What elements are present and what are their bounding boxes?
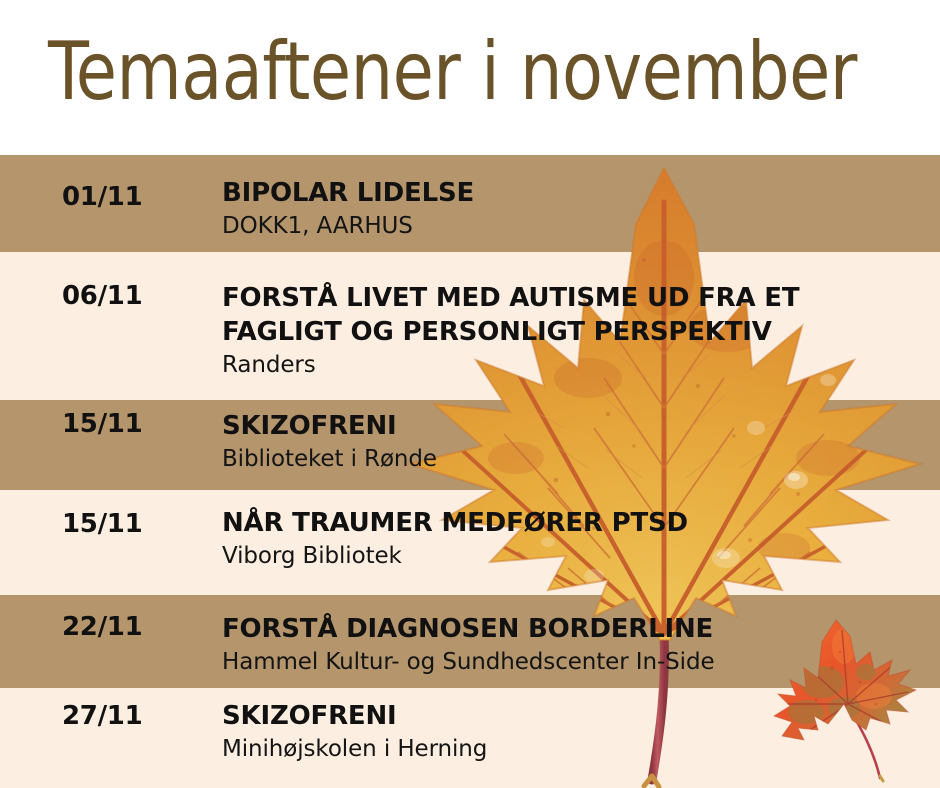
event-body: BIPOLAR LIDELSEDOKK1, AARHUS xyxy=(222,176,930,241)
event-title: SKIZOFRENI xyxy=(222,699,930,733)
event-venue: DOKK1, AARHUS xyxy=(222,212,930,241)
page-title: Temaaftener i november xyxy=(48,26,857,118)
event-title: NÅR TRAUMER MEDFØRER PTSD xyxy=(222,506,930,540)
event-body: FORSTÅ LIVET MED AUTISME UD FRA ET FAGLI… xyxy=(222,281,930,380)
event-venue: Minihøjskolen i Herning xyxy=(222,735,930,764)
event-date: 22/11 xyxy=(62,612,142,642)
event-venue: Biblioteket i Rønde xyxy=(222,445,930,474)
poster-header: Temaaftener i november xyxy=(0,0,940,155)
event-title: FORSTÅ DIAGNOSEN BORDERLINE xyxy=(222,612,930,646)
poster-canvas: 01/11BIPOLAR LIDELSEDOKK1, AARHUS06/11FO… xyxy=(0,0,940,788)
event-date: 27/11 xyxy=(62,701,142,731)
event-date: 15/11 xyxy=(62,509,142,539)
event-venue: Viborg Bibliotek xyxy=(222,542,930,571)
event-body: SKIZOFRENIMinihøjskolen i Herning xyxy=(222,699,930,764)
event-venue: Randers xyxy=(222,351,930,380)
event-title: FORSTÅ LIVET MED AUTISME UD FRA ET FAGLI… xyxy=(222,281,930,349)
event-body: SKIZOFRENIBiblioteket i Rønde xyxy=(222,409,930,474)
event-title: SKIZOFRENI xyxy=(222,409,930,443)
event-date: 06/11 xyxy=(62,281,142,311)
event-title: BIPOLAR LIDELSE xyxy=(222,176,930,210)
event-date: 01/11 xyxy=(62,182,142,212)
event-venue: Hammel Kultur- og Sundhedscenter In-Side xyxy=(222,648,930,677)
event-body: NÅR TRAUMER MEDFØRER PTSDViborg Bibliote… xyxy=(222,506,930,571)
event-body: FORSTÅ DIAGNOSEN BORDERLINEHammel Kultur… xyxy=(222,612,930,677)
event-date: 15/11 xyxy=(62,409,142,439)
